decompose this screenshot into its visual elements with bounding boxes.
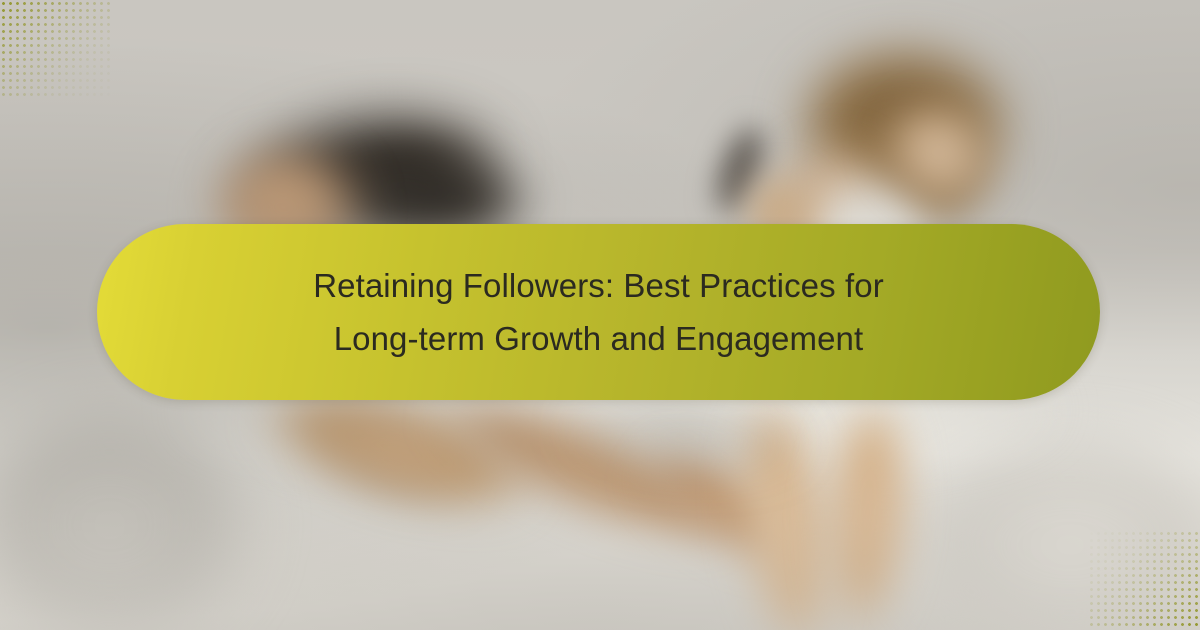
share-image-canvas: Retaining Followers: Best Practices for … — [0, 0, 1200, 630]
page-title-line-2: Long-term Growth and Engagement — [334, 320, 864, 357]
page-title-line-1: Retaining Followers: Best Practices for — [313, 267, 884, 304]
title-pill: Retaining Followers: Best Practices for … — [97, 224, 1100, 400]
dot-grid-top-left-icon — [0, 0, 112, 100]
page-title: Retaining Followers: Best Practices for … — [313, 259, 884, 366]
dot-grid-bottom-right-icon — [1088, 530, 1200, 630]
